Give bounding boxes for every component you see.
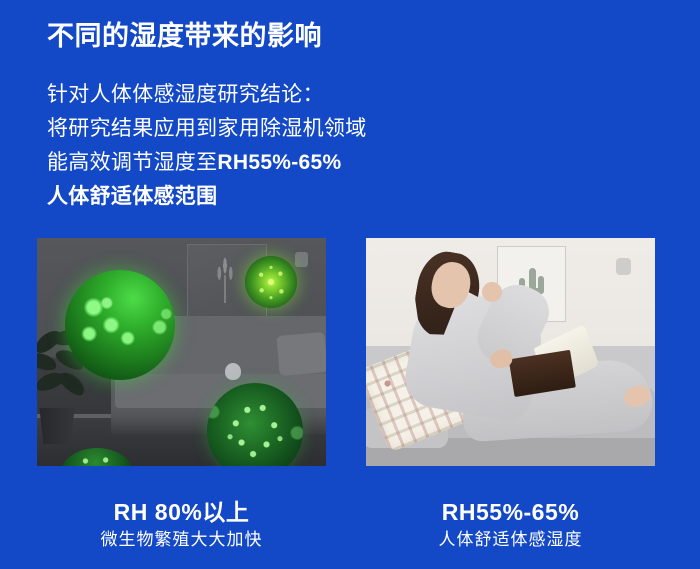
dark-living-room-scene: [37, 238, 326, 466]
caption-title: RH55%-65%: [366, 498, 655, 526]
caption-high-humidity: RH 80%以上 微生物繁殖大大加快: [37, 498, 326, 551]
caption-subtitle: 人体舒适体感湿度: [366, 529, 655, 551]
plant-pot: [37, 408, 77, 444]
caption-subtitle: 微生物繁殖大大加快: [37, 529, 326, 551]
book-cover: [509, 350, 576, 397]
caption-title: RH 80%以上: [37, 498, 326, 526]
bright-living-room-scene: [366, 238, 655, 466]
body-copy-line-1: 针对人体体感湿度研究结论：: [47, 78, 367, 112]
photo-comfort-humidity: [366, 238, 655, 466]
body-copy-block: 针对人体体感湿度研究结论： 将研究结果应用到家用除湿机领域 能高效调节湿度至RH…: [47, 78, 367, 214]
decor-vase: [225, 363, 241, 380]
photo-high-humidity: [37, 238, 326, 466]
humidity-infographic-poster: 不同的湿度带来的影响 针对人体体感湿度研究结论： 将研究结果应用到家用除湿机领域…: [0, 0, 700, 569]
microbe-sphere-large: [65, 270, 175, 380]
page-title: 不同的湿度带来的影响: [47, 19, 322, 53]
body-copy-line-4: 人体舒适体感范围: [47, 180, 367, 214]
plant-leaf: [56, 368, 89, 399]
body-copy-line-3-range: RH55%-65%: [217, 151, 341, 174]
wall-thermostat-icon: [295, 252, 308, 267]
caption-comfort-humidity: RH55%-65% 人体舒适体感湿度: [366, 498, 655, 551]
wall-thermostat-icon: [616, 258, 631, 275]
microbe-sphere-small: [245, 256, 297, 308]
body-copy-line-2: 将研究结果应用到家用除湿机领域: [47, 112, 367, 146]
sofa-cushion: [276, 332, 326, 376]
body-copy-line-3-text: 能高效调节湿度至: [47, 151, 217, 174]
body-copy-line-3: 能高效调节湿度至RH55%-65%: [47, 146, 367, 180]
